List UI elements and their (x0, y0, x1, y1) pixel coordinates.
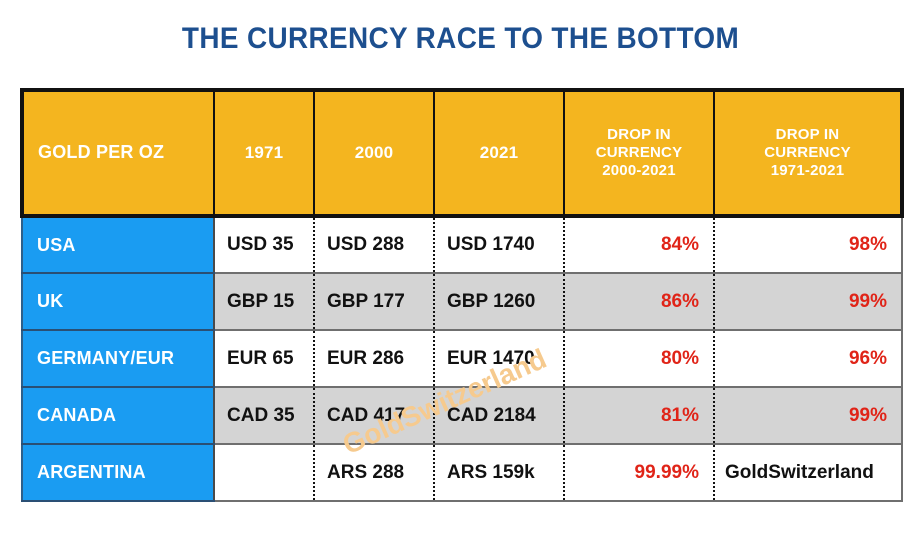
page-title: THE CURRENCY RACE TO THE BOTTOM (32, 22, 889, 56)
cell-usa-2000: USD 288 (314, 216, 434, 273)
cell-canada-drop-1971-2021: 99% (714, 387, 902, 444)
cell-argentina-2021: ARS 159k (434, 444, 564, 501)
table-body: USA USD 35 USD 288 USD 1740 84% 98% UK G… (22, 216, 902, 501)
column-header-label: 1971 (245, 143, 284, 162)
cell-uk-drop-2000-2021: 86% (564, 273, 714, 330)
column-header-drop-1971-2021: DROP IN CURRENCY 1971-2021 (714, 90, 902, 216)
column-header-line: DROP IN (573, 126, 705, 144)
row-label-usa: USA (22, 216, 214, 273)
column-header-label: 2000 (355, 143, 394, 162)
column-header-2000: 2000 (314, 90, 434, 216)
column-header-line: 2000-2021 (573, 162, 705, 180)
column-header-label: 2021 (480, 143, 519, 162)
currency-table-container: GOLD PER OZ 1971 2000 2021 DROP IN CURRE… (20, 88, 900, 501)
row-label-canada: CANADA (22, 387, 214, 444)
table-row-germany-eur: GERMANY/EUR EUR 65 EUR 286 EUR 1470 80% … (22, 330, 902, 387)
table-header: GOLD PER OZ 1971 2000 2021 DROP IN CURRE… (22, 90, 902, 216)
column-header-line: CURRENCY (723, 144, 892, 162)
cell-uk-drop-1971-2021: 99% (714, 273, 902, 330)
column-header-1971: 1971 (214, 90, 314, 216)
brand-logo-text: GoldSwitzerland (714, 444, 902, 501)
cell-canada-2000: CAD 417 (314, 387, 434, 444)
cell-germany-2021: EUR 1470 (434, 330, 564, 387)
column-header-2021: 2021 (434, 90, 564, 216)
cell-argentina-drop-2000-2021: 99.99% (564, 444, 714, 501)
row-label-argentina: ARGENTINA (22, 444, 214, 501)
cell-canada-1971: CAD 35 (214, 387, 314, 444)
cell-canada-2021: CAD 2184 (434, 387, 564, 444)
cell-usa-drop-1971-2021: 98% (714, 216, 902, 273)
cell-argentina-2000: ARS 288 (314, 444, 434, 501)
cell-germany-2000: EUR 286 (314, 330, 434, 387)
cell-germany-drop-1971-2021: 96% (714, 330, 902, 387)
column-header-label: GOLD PER OZ (38, 142, 164, 162)
table-row-usa: USA USD 35 USD 288 USD 1740 84% 98% (22, 216, 902, 273)
cell-canada-drop-2000-2021: 81% (564, 387, 714, 444)
currency-comparison-table: GOLD PER OZ 1971 2000 2021 DROP IN CURRE… (20, 88, 904, 502)
column-header-drop-2000-2021: DROP IN CURRENCY 2000-2021 (564, 90, 714, 216)
table-header-row: GOLD PER OZ 1971 2000 2021 DROP IN CURRE… (22, 90, 902, 216)
table-row-argentina: ARGENTINA ARS 288 ARS 159k 99.99% GoldSw… (22, 444, 902, 501)
infographic-page: THE CURRENCY RACE TO THE BOTTOM GOLD PER… (0, 0, 921, 534)
cell-germany-drop-2000-2021: 80% (564, 330, 714, 387)
cell-uk-2021: GBP 1260 (434, 273, 564, 330)
table-row-canada: CANADA CAD 35 CAD 417 CAD 2184 81% 99% (22, 387, 902, 444)
column-header-line: CURRENCY (573, 144, 705, 162)
cell-argentina-1971 (214, 444, 314, 501)
table-row-uk: UK GBP 15 GBP 177 GBP 1260 86% 99% (22, 273, 902, 330)
cell-uk-2000: GBP 177 (314, 273, 434, 330)
cell-germany-1971: EUR 65 (214, 330, 314, 387)
row-label-uk: UK (22, 273, 214, 330)
cell-uk-1971: GBP 15 (214, 273, 314, 330)
column-header-gold-per-oz: GOLD PER OZ (22, 90, 214, 216)
column-header-line: DROP IN (723, 126, 892, 144)
cell-usa-drop-2000-2021: 84% (564, 216, 714, 273)
row-label-germany-eur: GERMANY/EUR (22, 330, 214, 387)
cell-usa-2021: USD 1740 (434, 216, 564, 273)
column-header-line: 1971-2021 (723, 162, 892, 180)
cell-usa-1971: USD 35 (214, 216, 314, 273)
